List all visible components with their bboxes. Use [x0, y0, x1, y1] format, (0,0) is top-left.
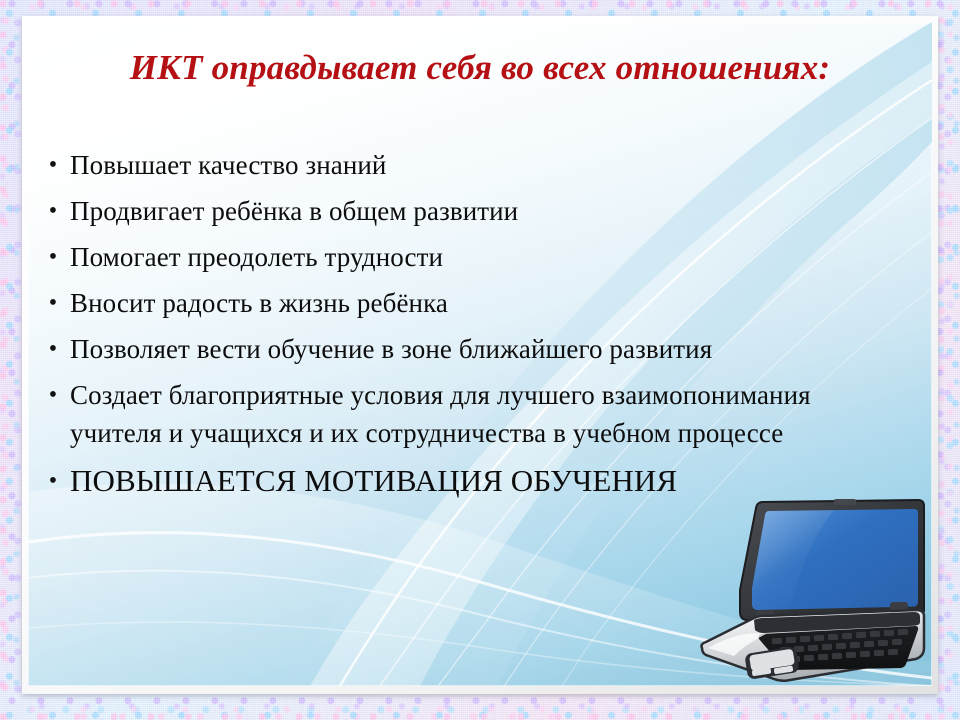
list-item: • Создает благоприятные условия для лучш… — [36, 376, 826, 452]
bullet-point-icon: • — [36, 146, 70, 184]
list-item-label: Продвигает ребёнка в общем развитии — [70, 192, 826, 230]
laptop-base — [702, 610, 925, 681]
list-item-label: Позволяет вести обучение в зоне ближайше… — [70, 330, 826, 368]
list-item: • Вносит радость в жизнь ребёнка — [36, 284, 826, 322]
bullet-point-icon: • — [36, 376, 70, 414]
laptop-screen — [740, 499, 924, 620]
list-item-label: ПОВЫШАЕТСЯ МОТИВАЦИЯ ОБУЧЕНИЯ — [70, 460, 826, 502]
list-item-label: Создает благоприятные условия для лучшег… — [70, 376, 826, 452]
laptop-icon — [694, 498, 926, 684]
list-item-emphasis: • ПОВЫШАЕТСЯ МОТИВАЦИЯ ОБУЧЕНИЯ — [36, 460, 826, 502]
list-item-label: Вносит радость в жизнь ребёнка — [70, 284, 826, 322]
list-item: • Помогает преодолеть трудности — [36, 238, 826, 276]
list-item: • Позволяет вести обучение в зоне ближай… — [36, 330, 826, 368]
list-item-label: Повышает качество знаний — [70, 146, 826, 184]
slide-title: ИКТ оправдывает себя во всех отношениях: — [28, 46, 932, 90]
bullet-point-icon: • — [36, 192, 70, 230]
bullet-point-icon: • — [36, 460, 70, 502]
list-item: • Продвигает ребёнка в общем развитии — [36, 192, 826, 230]
presentation-slide: ИКТ оправдывает себя во всех отношениях:… — [28, 22, 932, 686]
list-item-label: Помогает преодолеть трудности — [70, 238, 826, 276]
bullet-list: • Повышает качество знаний • Продвигает … — [36, 146, 826, 510]
bullet-point-icon: • — [36, 238, 70, 276]
decorative-border-frame: ИКТ оправдывает себя во всех отношениях:… — [0, 0, 960, 720]
bullet-point-icon: • — [36, 330, 70, 368]
bullet-point-icon: • — [36, 284, 70, 322]
list-item: • Повышает качество знаний — [36, 146, 826, 184]
